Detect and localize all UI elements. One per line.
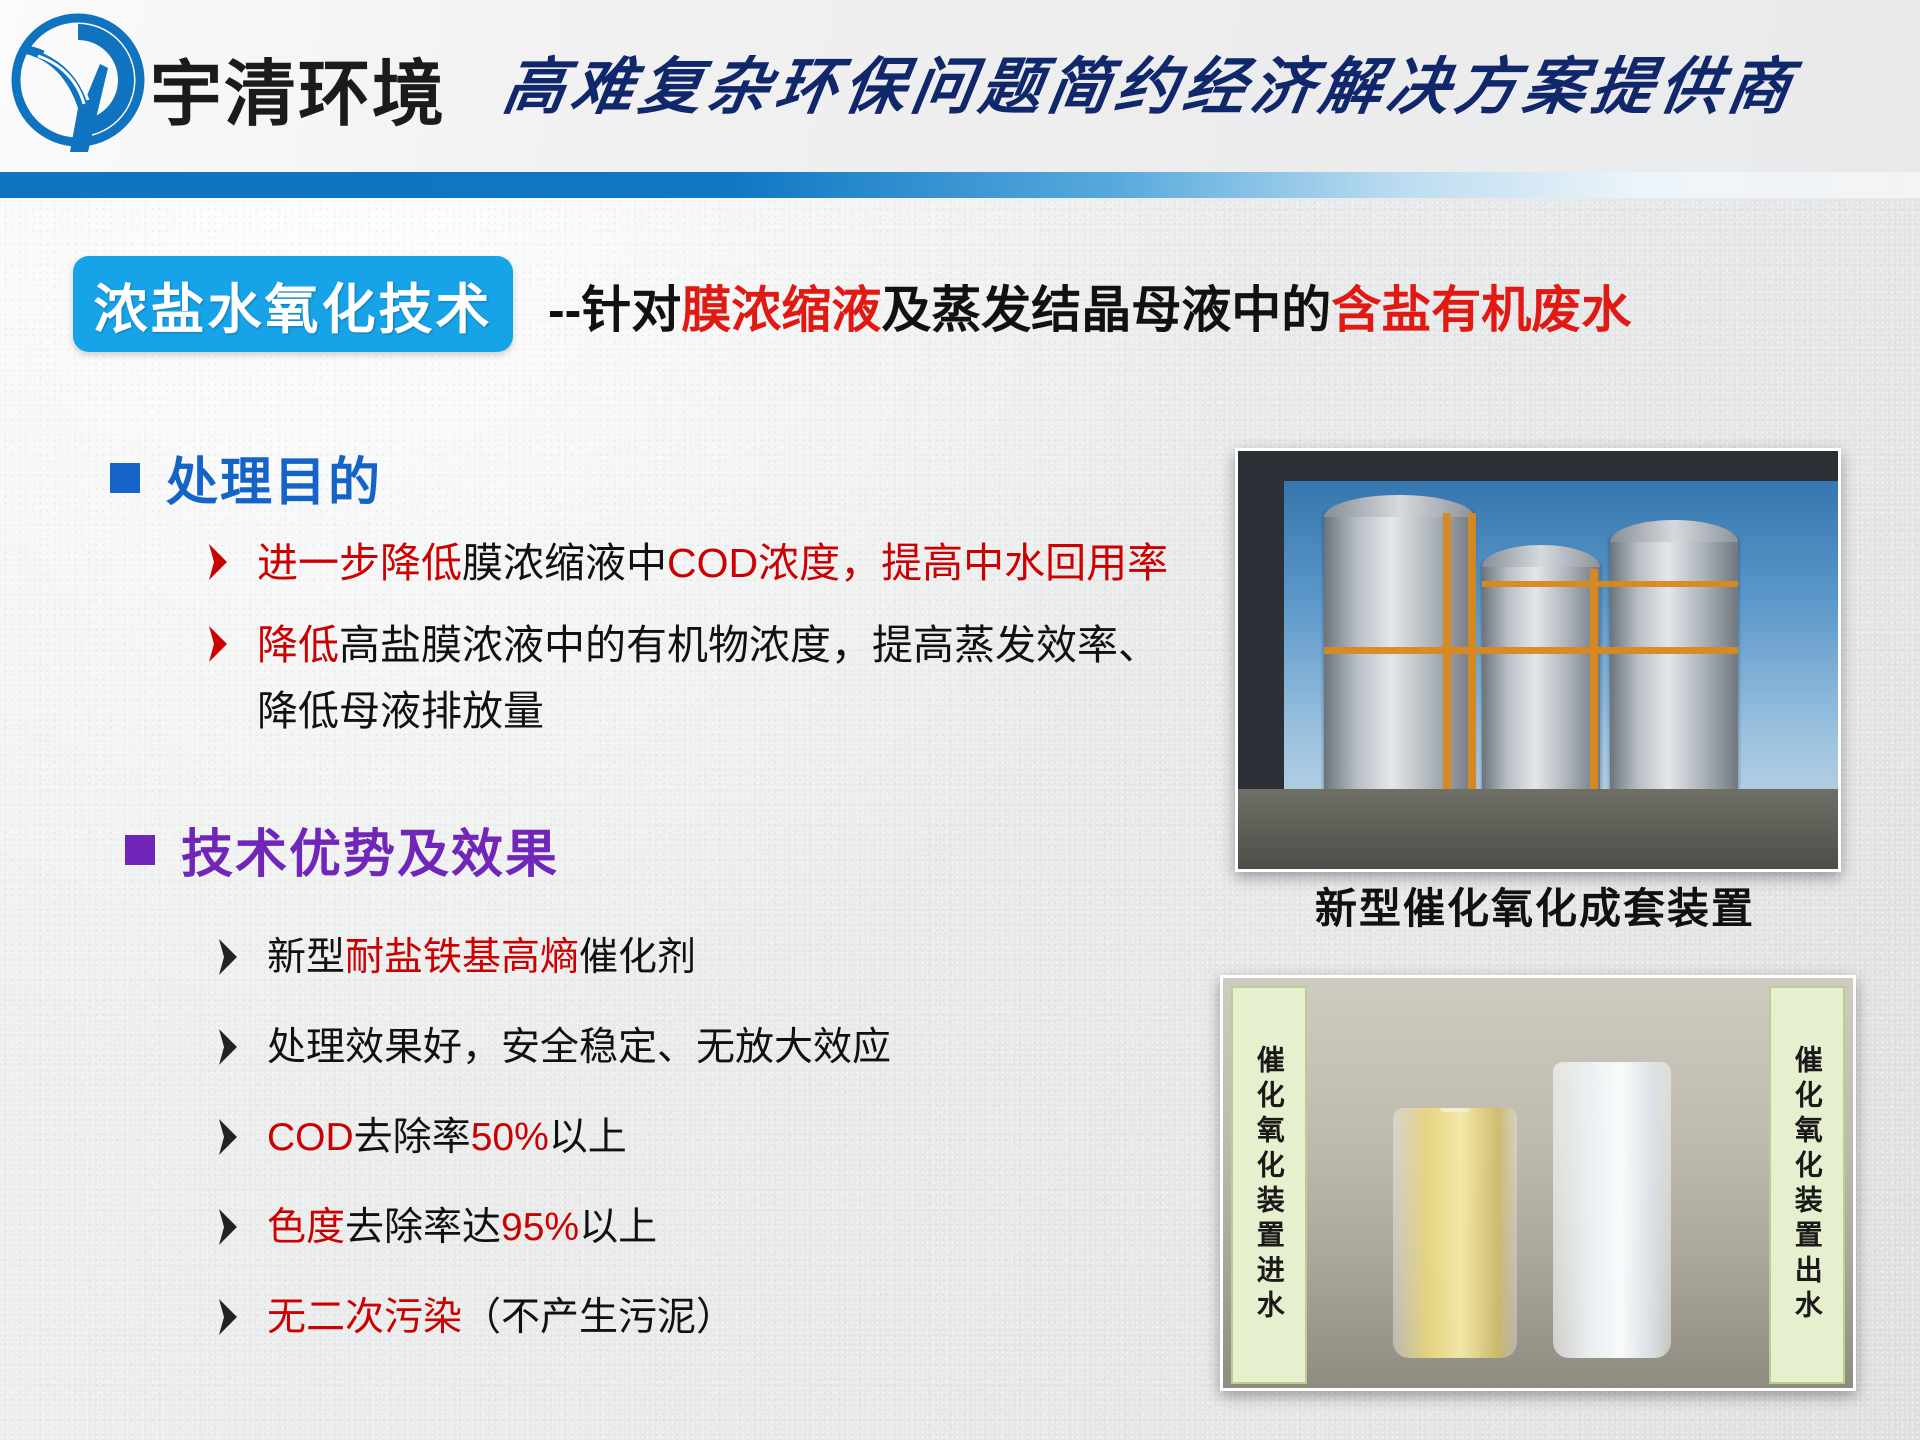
bullet-text: 处理效果好，安全稳定、无放大效应: [267, 1015, 891, 1081]
equipment-photo-caption: 新型催化氧化成套装置: [1235, 875, 1835, 936]
section-heading-advantages: 技术优势及效果: [125, 812, 559, 887]
bullet-1-2-run-3: 以上: [549, 1116, 627, 1159]
arrow-bullet-icon-wrap: [215, 1285, 241, 1339]
effluent-bottle: [1553, 1062, 1671, 1358]
bullet-text: COD去除率50%以上: [267, 1105, 627, 1171]
bullet-item: 无二次污染（不产生污泥）: [215, 1285, 1235, 1351]
photo-background-wall: [1223, 978, 1853, 1388]
photo-tank: [1610, 536, 1738, 811]
slide-header: 宇清环境 高难复杂环保问题简约经济解决方案提供商: [0, 0, 1920, 172]
bullet-text: 降低高盐膜浓液中的有机物浓度，提高蒸发效率、降低母液排放量: [257, 612, 1159, 744]
bullet-1-0-run-2: 催化剂: [579, 936, 696, 979]
yuqing-circle-logo-icon: [8, 12, 148, 152]
photo-ground: [1238, 789, 1838, 869]
photo-ladder: [1443, 513, 1451, 813]
section-heading-purpose: 处理目的: [110, 440, 382, 515]
bullet-1-3-run-3: 以上: [579, 1206, 657, 1249]
bullet-1-3-run-0: 色度: [267, 1206, 345, 1249]
photo-tank: [1482, 561, 1600, 811]
bullet-0-0-run-0: 进一步降低: [257, 540, 462, 586]
arrow-bullet-icon: [205, 622, 231, 666]
brand-name: 宇清环境: [150, 35, 446, 140]
arrow-bullet-icon: [215, 1205, 241, 1249]
subtitle-run-1: 膜浓缩液: [681, 282, 881, 338]
bullet-list-purpose: 进一步降低膜浓缩液中COD浓度，提高中水回用率降低高盐膜浓液中的有机物浓度，提高…: [205, 530, 1285, 760]
arrow-bullet-icon-wrap: [215, 1015, 241, 1069]
topic-title-label: 浓盐水氧化技术: [94, 265, 493, 344]
bullet-item: 处理效果好，安全稳定、无放大效应: [215, 1015, 1235, 1081]
bullet-1-0-run-0: 新型: [267, 936, 345, 979]
bullet-0-0-run-2: COD浓度，提高中水回用率: [667, 540, 1168, 586]
bullet-1-3-run-1: 去除率达: [345, 1206, 501, 1249]
bullet-1-2-run-0: COD: [267, 1116, 354, 1159]
section-heading-label: 技术优势及效果: [181, 812, 559, 887]
bullet-1-0-run-1: 耐盐铁基高熵: [345, 936, 579, 979]
bullet-text: 新型耐盐铁基高熵催化剂: [267, 925, 696, 991]
bullet-1-2-run-2: 50%: [471, 1116, 549, 1159]
water-sample-comparison-photo: 催化氧化装置进水 催化氧化装置出水: [1220, 975, 1856, 1391]
subtitle-run-3: 含盐有机废水: [1331, 282, 1631, 338]
bullet-text-continuation: 降低母液排放量: [257, 678, 1159, 744]
bullet-1-4-run-1: （不产生污泥）: [462, 1296, 735, 1339]
arrow-bullet-icon: [205, 540, 231, 584]
square-bullet-icon: [125, 835, 155, 865]
arrow-bullet-icon-wrap: [215, 1195, 241, 1249]
subtitle-run-0: --针对: [548, 282, 681, 338]
photo-tank: [1324, 511, 1474, 811]
photo-beam: [1238, 451, 1838, 481]
effluent-label-text: 催化氧化装置出水: [1792, 1045, 1821, 1325]
slide-canvas: 宇清环境 高难复杂环保问题简约经济解决方案提供商 浓盐水氧化技术 --针对膜浓缩…: [0, 0, 1920, 1440]
bullet-text: 色度去除率达95%以上: [267, 1195, 657, 1261]
bullet-1-1-run-0: 处理效果好，安全稳定、无放大效应: [267, 1026, 891, 1069]
arrow-bullet-icon-wrap: [205, 530, 231, 584]
section-heading-label: 处理目的: [166, 440, 382, 515]
bullet-item: 进一步降低膜浓缩液中COD浓度，提高中水回用率: [205, 530, 1285, 596]
bullet-1-4-run-0: 无二次污染: [267, 1296, 462, 1339]
bullet-text: 进一步降低膜浓缩液中COD浓度，提高中水回用率: [257, 530, 1168, 596]
bullet-text: 无二次污染（不产生污泥）: [267, 1285, 735, 1351]
arrow-bullet-icon: [215, 1295, 241, 1339]
photo-ladder: [1590, 569, 1598, 809]
catalytic-oxidation-equipment-photo: [1235, 448, 1841, 872]
arrow-bullet-icon-wrap: [215, 925, 241, 979]
arrow-bullet-icon-wrap: [215, 1105, 241, 1159]
bullet-item: COD去除率50%以上: [215, 1105, 1235, 1171]
bullet-item: 降低高盐膜浓液中的有机物浓度，提高蒸发效率、降低母液排放量: [205, 612, 1285, 744]
bullet-list-advantages: 新型耐盐铁基高熵催化剂处理效果好，安全稳定、无放大效应COD去除率50%以上色度…: [215, 925, 1235, 1375]
arrow-bullet-icon: [215, 1115, 241, 1159]
square-bullet-icon: [110, 463, 140, 493]
company-slogan: 高难复杂环保问题简约经济解决方案提供商: [498, 36, 1804, 126]
bullet-0-1-run-1: 高盐膜浓液中的有机物浓度，提高蒸发效率、: [339, 622, 1159, 668]
arrow-bullet-icon: [215, 935, 241, 979]
bullet-0-0-run-1: 膜浓缩液中: [462, 540, 667, 586]
bullet-1-3-run-2: 95%: [501, 1206, 579, 1249]
arrow-bullet-icon-wrap: [205, 612, 231, 666]
effluent-label: 催化氧化装置出水: [1769, 986, 1845, 1384]
photo-platform: [1324, 647, 1738, 654]
topic-subtitle: --针对膜浓缩液及蒸发结晶母液中的含盐有机废水: [548, 270, 1631, 342]
influent-label: 催化氧化装置进水: [1231, 986, 1307, 1384]
influent-bottle: [1393, 1108, 1517, 1358]
photo-platform: [1482, 581, 1738, 587]
header-divider-bar: [0, 172, 1920, 198]
subtitle-run-2: 及蒸发结晶母液中的: [881, 282, 1331, 338]
photo-ladder: [1468, 513, 1476, 813]
bullet-item: 色度去除率达95%以上: [215, 1195, 1235, 1261]
arrow-bullet-icon: [215, 1025, 241, 1069]
bullet-0-1-run-0: 降低: [257, 622, 339, 668]
topic-title-pill: 浓盐水氧化技术: [73, 256, 513, 352]
influent-label-text: 催化氧化装置进水: [1254, 1045, 1283, 1325]
bullet-item: 新型耐盐铁基高熵催化剂: [215, 925, 1235, 991]
bullet-1-2-run-1: 去除率: [354, 1116, 471, 1159]
